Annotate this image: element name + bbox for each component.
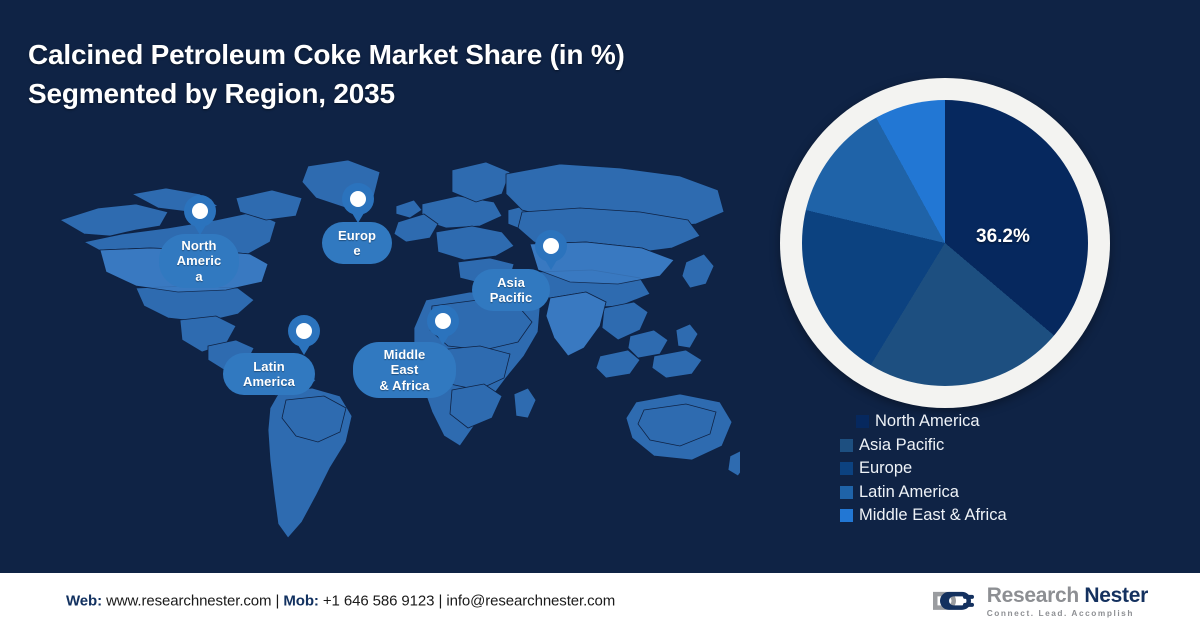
logo-text: Research Nester Connect. Lead. Accomplis…	[987, 584, 1148, 616]
legend-item[interactable]: Asia Pacific	[840, 434, 1140, 458]
footer-web-value[interactable]: www.researchnester.com	[102, 592, 276, 609]
map-label-line: America	[243, 374, 295, 389]
legend-label: Europe	[859, 459, 912, 478]
legend-label: North America	[875, 412, 980, 431]
pie-data-label: 36.2%	[976, 226, 1030, 248]
logo-word-nester: Nester	[1079, 583, 1148, 606]
legend-item[interactable]: North America	[840, 410, 1140, 434]
map-pin-dot-icon	[350, 191, 366, 207]
map-pin-dot-icon	[296, 323, 312, 339]
legend-swatch-icon	[840, 509, 853, 522]
page-title: Calcined Petroleum Coke Market Share (in…	[28, 36, 818, 113]
map-label-latin-america: Latin America	[223, 353, 315, 395]
map-label-line: a	[195, 269, 202, 284]
map-pin-dot-icon	[192, 203, 208, 219]
pie-slices[interactable]	[802, 100, 1088, 386]
legend-swatch-icon	[840, 462, 853, 475]
legend-swatch-icon	[856, 415, 869, 428]
title-line-1: Calcined Petroleum Coke Market Share (in…	[28, 36, 818, 75]
research-nester-logo[interactable]: Research Nester Connect. Lead. Accomplis…	[929, 584, 1148, 616]
infographic-canvas: Calcined Petroleum Coke Market Share (in…	[0, 0, 1200, 628]
map-label-line: Pacific	[490, 290, 533, 305]
map-label-line: Latin	[253, 359, 285, 374]
logo-word-research: Research	[987, 583, 1079, 606]
footer-email[interactable]: info@researchnester.com	[446, 592, 615, 609]
chart-legend: North America Asia Pacific Europe Latin …	[840, 410, 1140, 528]
footer-bar: Web: www.researchnester.com | Mob: +1 64…	[0, 573, 1200, 628]
map-label-line: East	[391, 362, 419, 377]
map-pin-dot-icon	[435, 313, 451, 329]
legend-label: Asia Pacific	[859, 436, 944, 455]
footer-contact-text: Web: www.researchnester.com | Mob: +1 64…	[66, 592, 615, 609]
logo-mark-icon	[929, 585, 979, 615]
footer-web-label: Web:	[66, 592, 102, 609]
map-label-line: Europ	[338, 228, 376, 243]
map-label-line: North	[181, 238, 216, 253]
map-label-line: e	[353, 243, 360, 258]
map-label-line: & Africa	[379, 378, 429, 393]
legend-item[interactable]: Latin America	[840, 481, 1140, 505]
map-label-line: Asia	[497, 275, 525, 290]
map-label-middle-east-africa: Middle East & Africa	[353, 342, 456, 398]
legend-item[interactable]: Europe	[840, 457, 1140, 481]
logo-wordmark: Research Nester	[987, 584, 1148, 605]
map-label-asia-pacific: Asia Pacific	[472, 269, 550, 311]
pie-chart: 36.2%	[780, 78, 1110, 408]
map-label-europe: Europ e	[322, 222, 392, 264]
legend-swatch-icon	[840, 439, 853, 452]
footer-mob-label: Mob:	[283, 592, 318, 609]
footer-mob-value: +1 646 586 9123	[319, 592, 439, 609]
world-map: North Americ a Europ e Asia Pacific La	[40, 150, 740, 550]
legend-label: Middle East & Africa	[859, 506, 1007, 525]
legend-label: Latin America	[859, 483, 959, 502]
legend-item[interactable]: Middle East & Africa	[840, 504, 1140, 528]
title-line-2: Segmented by Region, 2035	[28, 75, 818, 114]
map-label-line: Americ	[177, 253, 222, 268]
logo-tagline: Connect. Lead. Accomplish	[987, 608, 1148, 616]
map-label-north-america: North Americ a	[159, 234, 239, 288]
map-pin-dot-icon	[543, 238, 559, 254]
legend-swatch-icon	[840, 486, 853, 499]
map-label-line: Middle	[384, 347, 426, 362]
